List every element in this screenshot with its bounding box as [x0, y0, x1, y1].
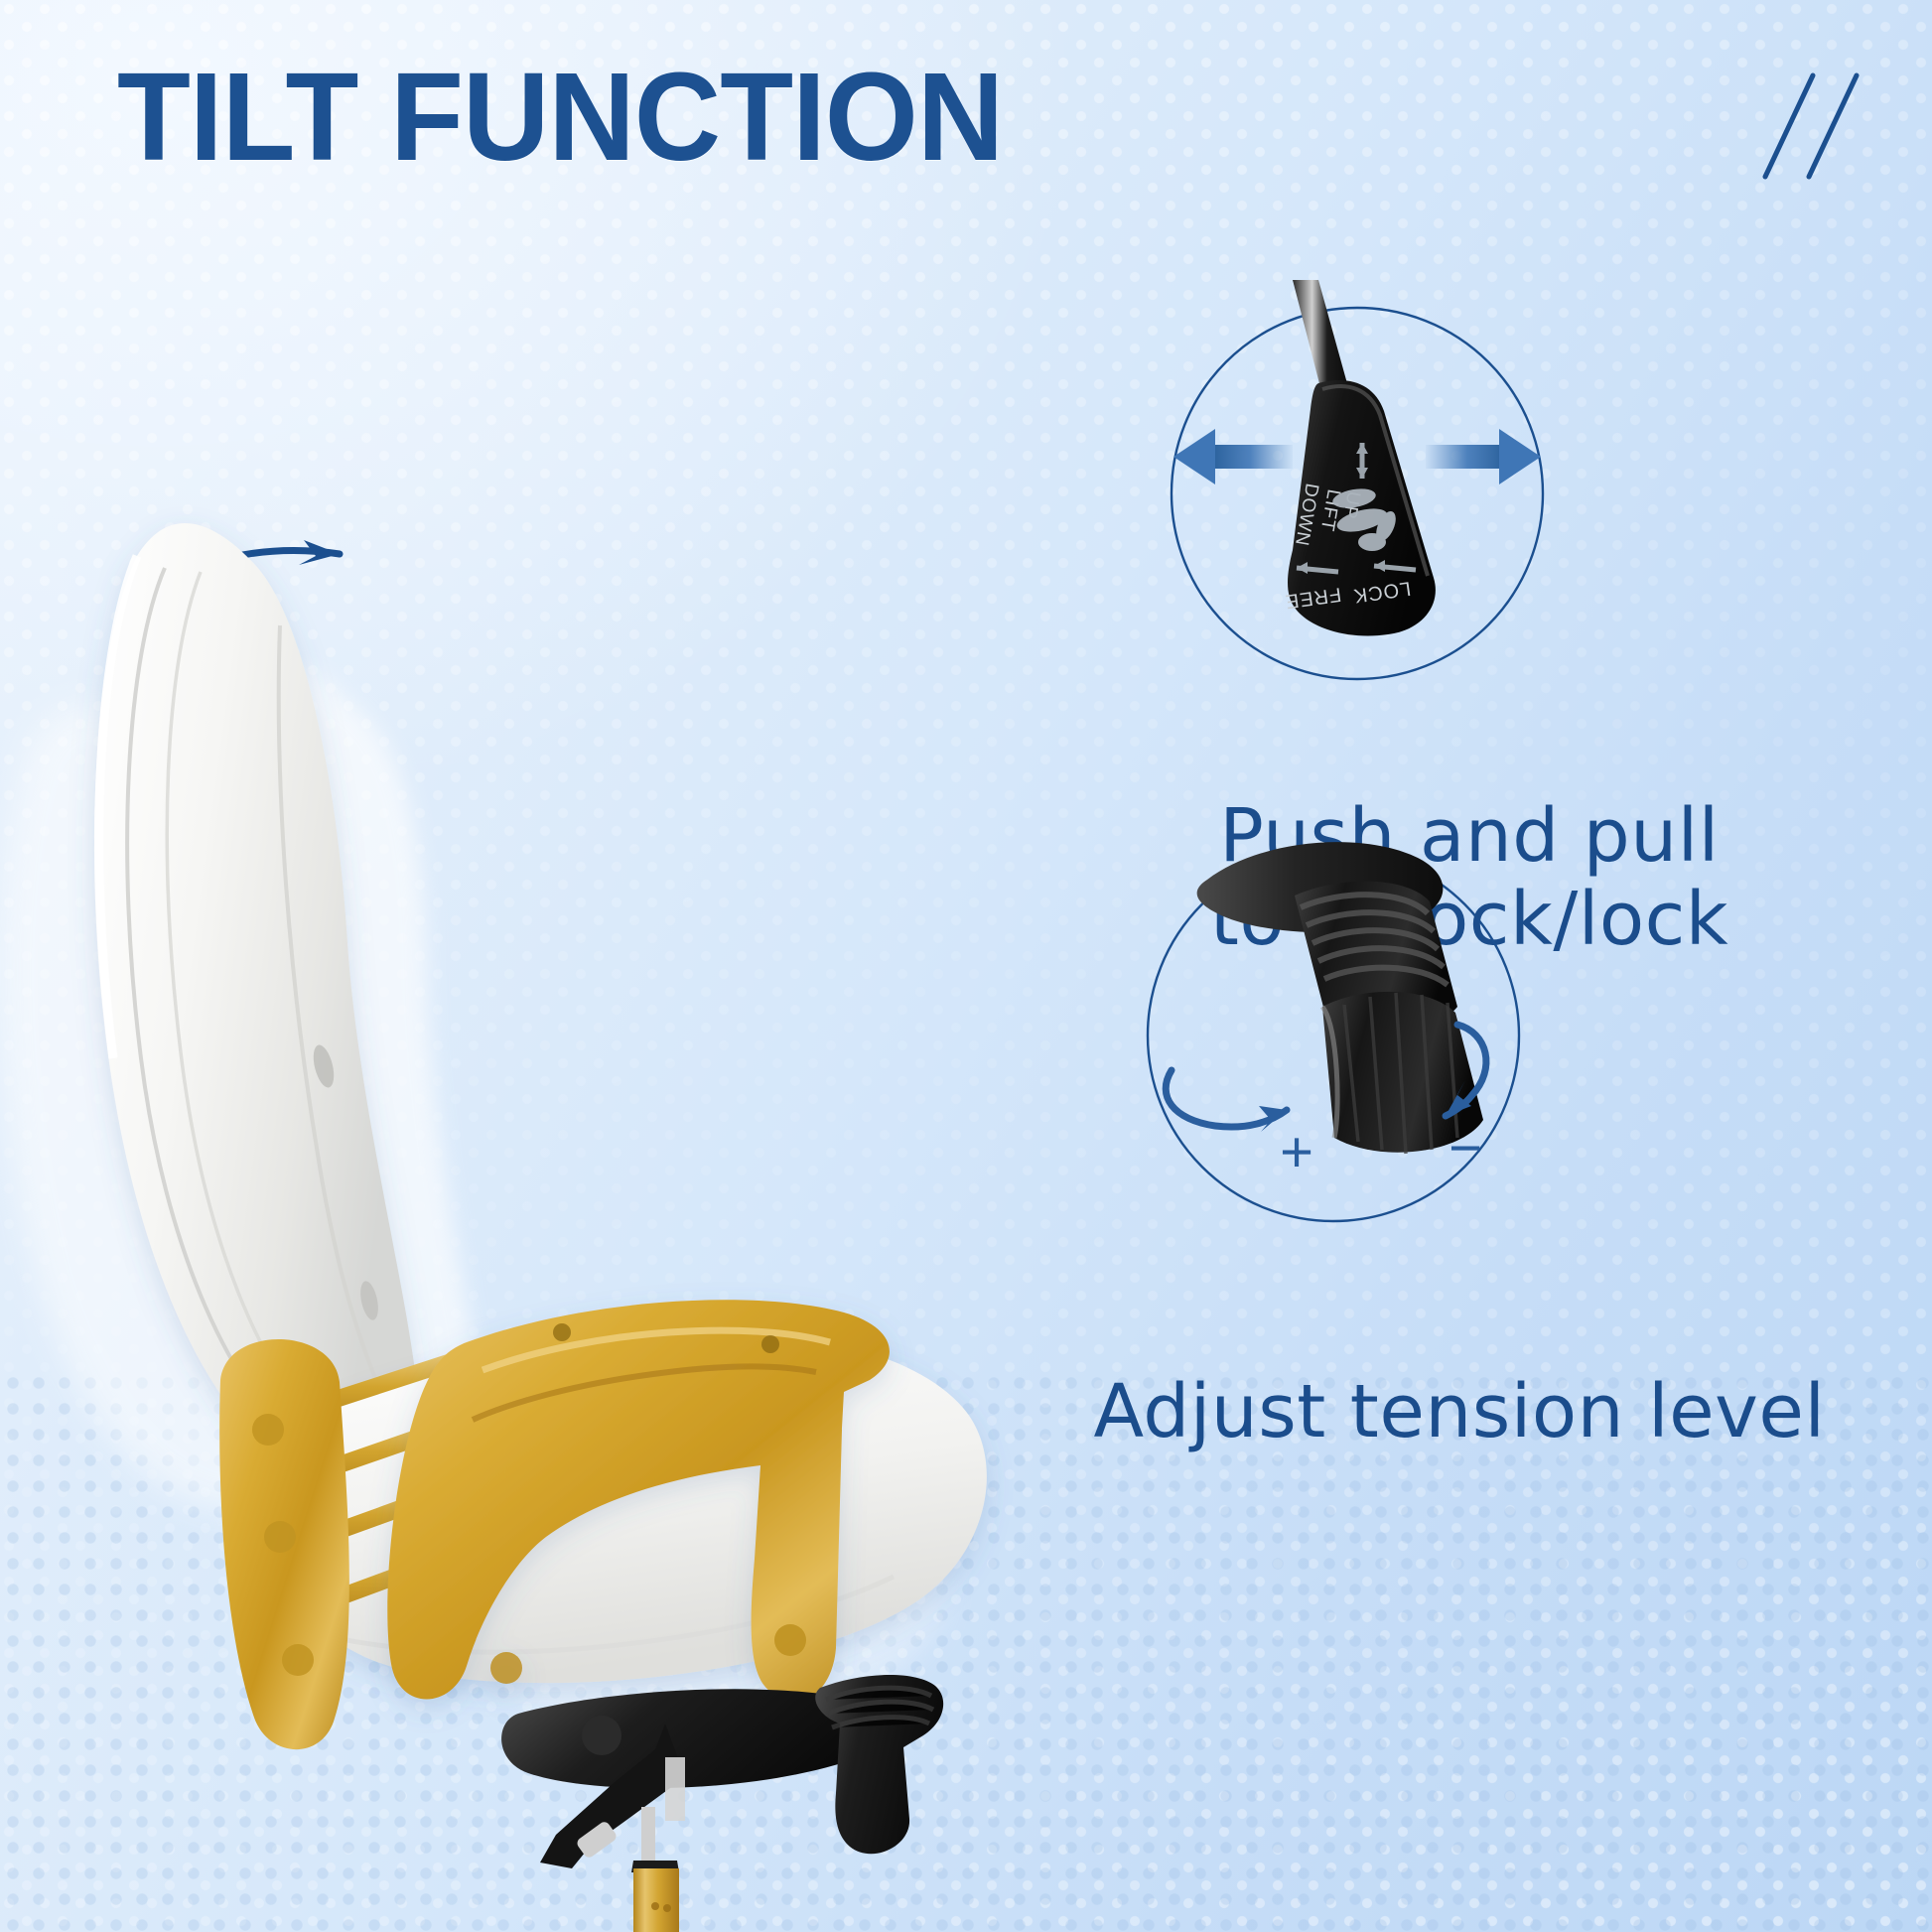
push-arrow-left-icon: [1173, 429, 1293, 484]
tension-minus-symbol: −: [1449, 1116, 1482, 1180]
office-chair-illustration: [0, 427, 1082, 1932]
callout-tilt-lever: LOCK FREE UP LIFT DOWN: [1144, 280, 1571, 707]
callout-tension-knob: + −: [1120, 822, 1547, 1249]
chair-gas-cylinder: [631, 1807, 679, 1932]
product-feature-banner: TILT FUNCTION: [0, 0, 1932, 1932]
tension-plus-symbol: +: [1280, 1120, 1313, 1184]
caption-line-1: Adjust tension level: [993, 1370, 1926, 1453]
rotate-increase-arrow-icon: [1166, 1070, 1287, 1127]
lever-rod: [1293, 280, 1348, 395]
pull-arrow-right-icon: [1426, 429, 1541, 484]
callout-caption-tension: Adjust tension level: [993, 1370, 1926, 1453]
chair-gold-back-post: [219, 1339, 349, 1749]
double-slash-accent-icon: [1751, 69, 1870, 184]
page-title: TILT FUNCTION: [117, 55, 1003, 180]
